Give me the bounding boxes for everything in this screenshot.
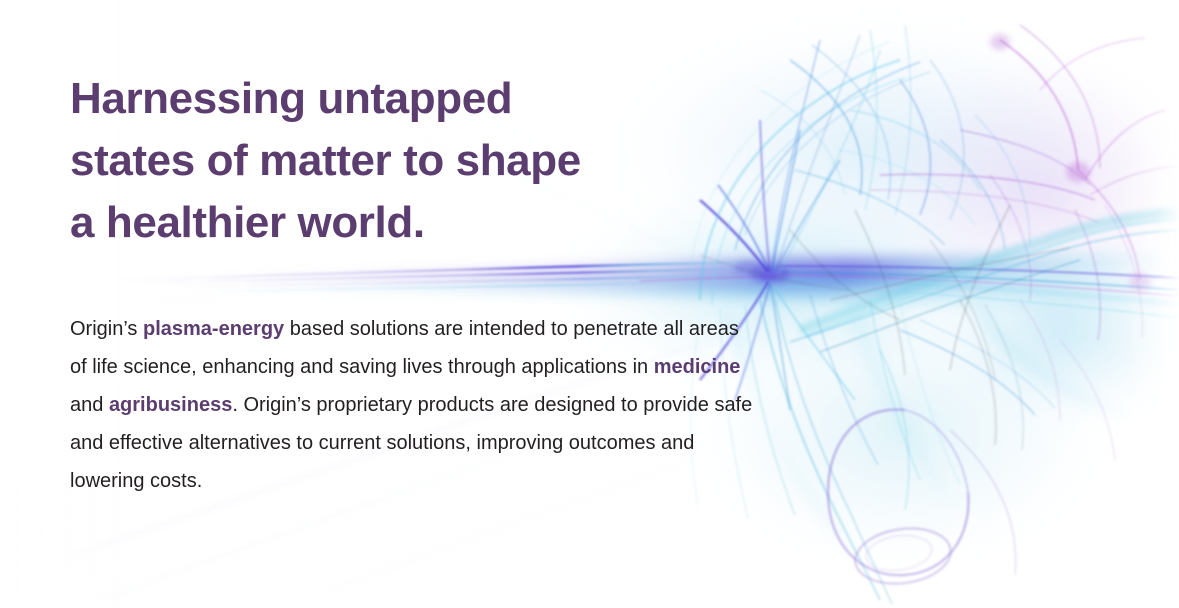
page-title: Harnessing untapped states of matter to … — [70, 68, 690, 254]
body-text-run: and — [70, 394, 109, 416]
accent-term: plasma-energy — [143, 318, 284, 340]
hero-content: Harnessing untapped states of matter to … — [0, 0, 1179, 608]
body-text-run: Origin’s — [70, 318, 143, 340]
accent-term: medicine — [654, 356, 741, 378]
accent-term: agribusiness — [109, 394, 232, 416]
hero-banner: Harnessing untapped states of matter to … — [0, 0, 1179, 608]
hero-description: Origin’s plasma-energy based solutions a… — [70, 310, 760, 500]
